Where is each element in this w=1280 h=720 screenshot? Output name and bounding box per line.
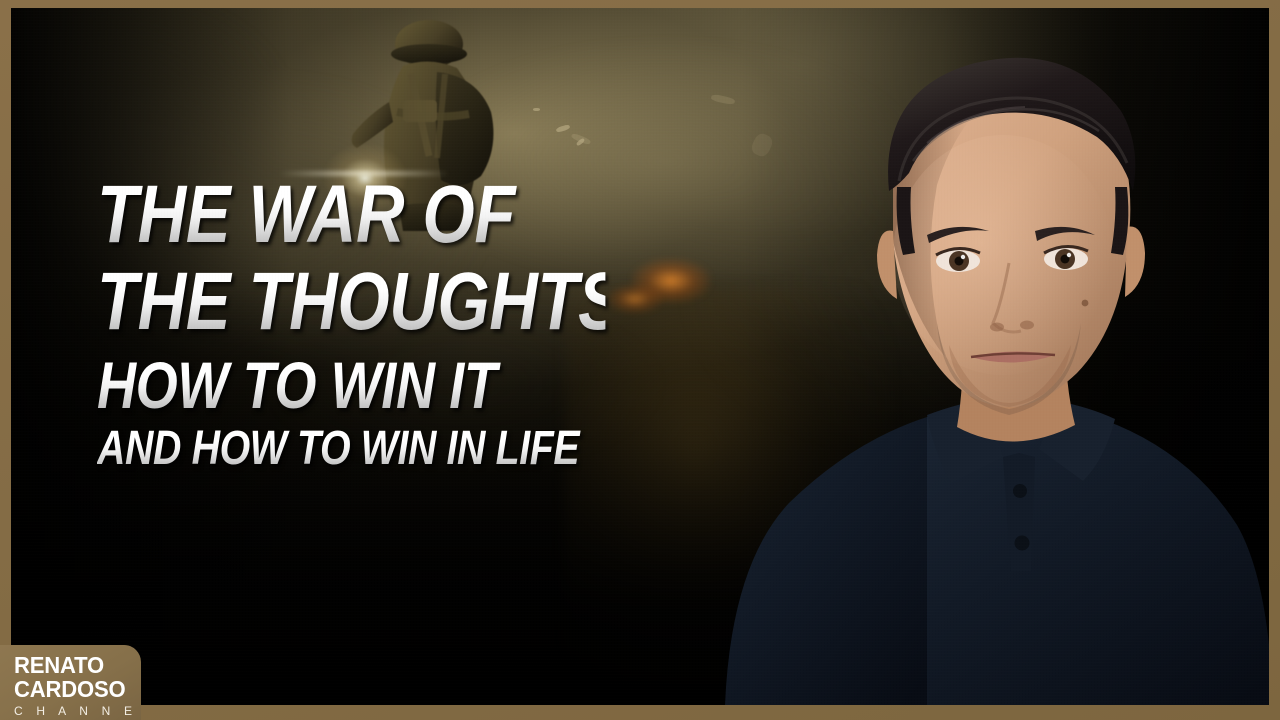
headline-line-4: AND HOW TO WIN IN LIFE	[97, 426, 605, 471]
headline-block: THE WAR OF THE THOUGHTS: HOW TO WIN IT A…	[97, 176, 717, 471]
logo-line-cardoso: CARDOSO	[14, 678, 136, 702]
thumbnail-canvas: THE WAR OF THE THOUGHTS: HOW TO WIN IT A…	[11, 8, 1269, 705]
headline-line-1: THE WAR OF	[97, 176, 605, 253]
presenter-portrait	[713, 8, 1269, 705]
logo-line-channel: C H A N N E L	[14, 704, 141, 720]
headline-line-2: THE THOUGHTS:	[97, 263, 605, 340]
logo-line-renato: RENATO	[14, 654, 136, 678]
channel-logo-badge: RENATO CARDOSO C H A N N E L	[0, 645, 141, 720]
video-thumbnail: THE WAR OF THE THOUGHTS: HOW TO WIN IT A…	[0, 0, 1280, 720]
headline-line-3: HOW TO WIN IT	[97, 354, 605, 416]
